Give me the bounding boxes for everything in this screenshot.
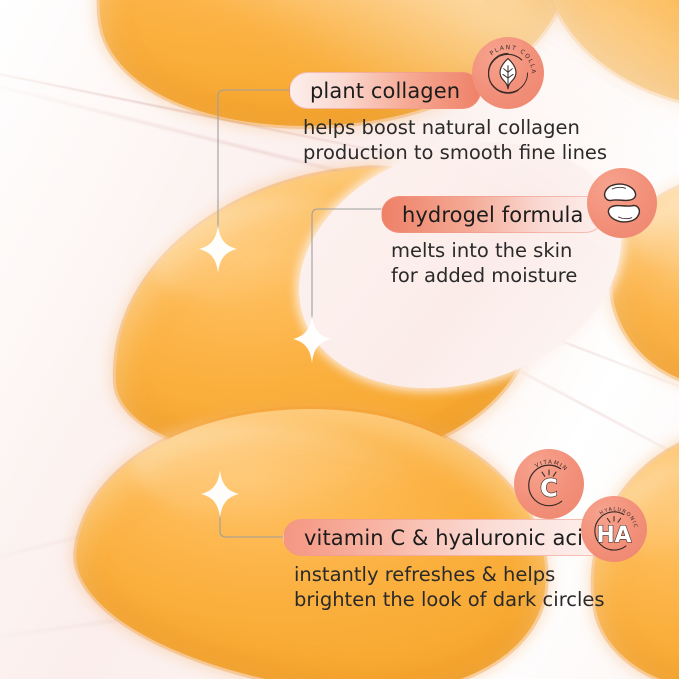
- description-hydrogel-formula: melts into the skin for added moisture: [391, 238, 577, 288]
- gel-patch-top-right: [527, 0, 679, 129]
- description-line: for added moisture: [391, 263, 577, 288]
- description-line: brighten the look of dark circles: [294, 587, 605, 612]
- description-line: melts into the skin: [391, 238, 577, 263]
- sparkle-bottom-icon: [194, 468, 246, 520]
- description-line: instantly refreshes & helps: [294, 562, 605, 587]
- hydrogel-badge: [587, 168, 657, 238]
- description-vitamin-c: instantly refreshes & helps brighten the…: [294, 562, 605, 612]
- badge-curved-text: VITAMIN: [534, 460, 568, 473]
- letters-ha-icon: HA: [596, 523, 631, 548]
- plant-collagen-badge: PLANT COLLAGEN: [472, 37, 544, 109]
- connector-vitamin-c-icon: [220, 497, 283, 537]
- pill-plant-collagen[interactable]: plant collagen: [289, 72, 481, 109]
- sparkle-top-icon: [192, 223, 244, 275]
- sparkle-middle-icon: [286, 313, 338, 365]
- hyaluronic-acid-badge: HA HYALURONIC: [581, 496, 647, 562]
- description-line: production to smooth fine lines: [303, 140, 607, 165]
- vitamin-c-badge: C VITAMIN: [514, 449, 584, 519]
- background-streak: [0, 590, 319, 644]
- eye-patch-lower-icon: [608, 206, 639, 222]
- description-line: helps boost natural collagen: [303, 115, 607, 140]
- pill-vitamin-c[interactable]: vitamin C & hyaluronic acid: [283, 519, 617, 556]
- pill-hydrogel-formula[interactable]: hydrogel formula: [381, 196, 604, 233]
- connector-hydrogel-icon: [312, 209, 381, 338]
- connector-plant-collagen-icon: [218, 90, 289, 248]
- eye-patch-upper-icon: [605, 184, 636, 200]
- description-plant-collagen: helps boost natural collagen production …: [303, 115, 607, 165]
- infographic-canvas: plant collagen helps boost natural colla…: [0, 0, 679, 679]
- letter-c-icon: C: [540, 474, 558, 503]
